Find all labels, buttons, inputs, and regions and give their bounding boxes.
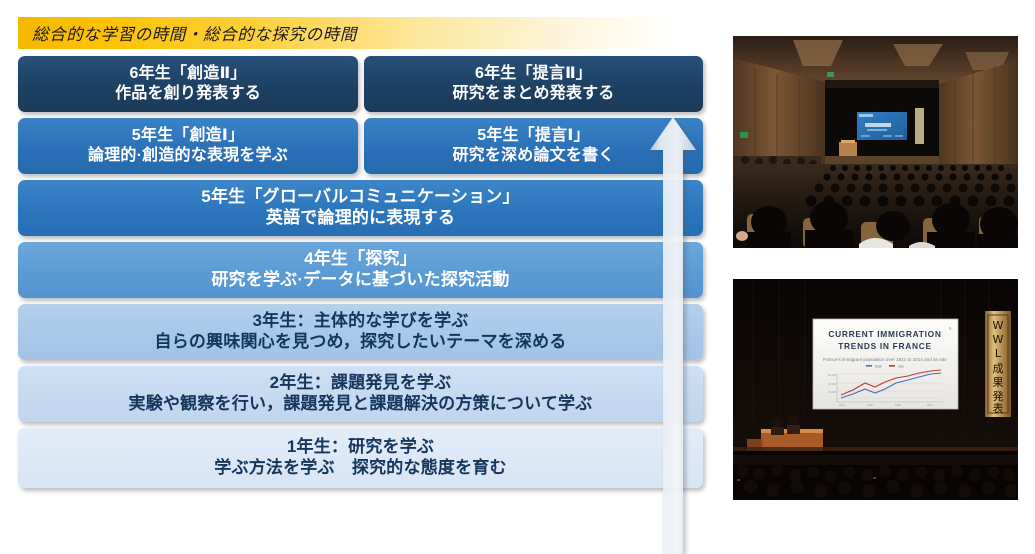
- svg-text:total: total: [875, 364, 882, 368]
- box-line-1: 6年生「創造Ⅱ」: [129, 64, 246, 84]
- header-banner: 総合的な学習の時間・総合的な探究の時間: [18, 17, 710, 49]
- box-line-2: 自らの興味関心を見つめ，探究したいテーマを深める: [155, 332, 567, 353]
- svg-text:2014: 2014: [927, 403, 933, 407]
- box-line-2: 研究を深め論文を書く: [452, 146, 614, 166]
- ladder-row-grade5: 5年生「創造Ⅰ」 論理的·創造的な表現を学ぶ 5年生「提言Ⅰ」 研究を深め論文を…: [0, 118, 715, 174]
- svg-text:rate: rate: [898, 364, 904, 368]
- ladder-row-grade6: 6年生「創造Ⅱ」 作品を創り発表する 6年生「提言Ⅱ」 研究をまとめ発表する: [0, 56, 715, 112]
- slide-subtitle: France's immigrant population over 1921 …: [823, 357, 947, 362]
- ladder-box-grade5-creation1[interactable]: 5年生「創造Ⅰ」 論理的·創造的な表現を学ぶ: [18, 118, 358, 174]
- ladder-box-grade3-independent-learning[interactable]: 3年生：主体的な学びを学ぶ 自らの興味関心を見つめ，探究したいテーマを深める: [18, 304, 703, 360]
- svg-text:W: W: [993, 333, 1004, 346]
- ladder-box-grade5-global-communication[interactable]: 5年生「グローバルコミュニケーション」 英語で論理的に表現する: [18, 180, 703, 236]
- svg-text:30 000: 30 000: [828, 373, 836, 377]
- box-line-1: 5年生「創造Ⅰ」: [132, 126, 244, 146]
- box-line-1: 5年生「グローバルコミュニケーション」: [201, 187, 519, 208]
- photo-stage-presentation: CURRENT IMMIGRATION TRENDS IN FRANCE Fra…: [733, 279, 1018, 500]
- ladder-row-grade1: 1年生：研究を学ぶ 学ぶ方法を学ぶ 探究的な態度を育む: [0, 428, 715, 488]
- svg-text:発: 発: [993, 389, 1004, 403]
- ladder-box-grade6-proposal2[interactable]: 6年生「提言Ⅱ」 研究をまとめ発表する: [364, 56, 703, 112]
- box-line-1: 2年生：課題発見を学ぶ: [270, 373, 452, 394]
- box-line-2: 英語で論理的に表現する: [266, 208, 455, 229]
- box-line-2: 実験や観察を行い，課題発見と課題解決の方策について学ぶ: [129, 394, 593, 415]
- svg-text:L: L: [995, 347, 1002, 360]
- box-line-2: 論理的·創造的な表現を学ぶ: [88, 146, 288, 166]
- box-line-1: 6年生「提言Ⅱ」: [475, 64, 592, 84]
- banner-calligraphy-text: W W L 成 果 発 表: [993, 319, 1004, 415]
- svg-text:1921: 1921: [839, 403, 845, 407]
- svg-text:果: 果: [993, 376, 1004, 389]
- box-line-1: 5年生「提言Ⅰ」: [477, 126, 589, 146]
- box-line-1: 4年生「探究」: [304, 249, 417, 270]
- ladder-box-grade6-creation2[interactable]: 6年生「創造Ⅱ」 作品を創り発表する: [18, 56, 358, 112]
- slide-title-line1: CURRENT IMMIGRATION: [828, 329, 941, 339]
- slide-title-line2: TRENDS IN FRANCE: [838, 341, 932, 351]
- svg-text:成: 成: [993, 362, 1004, 375]
- svg-text:W: W: [993, 319, 1004, 332]
- ladder-box-grade2-problem-finding[interactable]: 2年生：課題発見を学ぶ 実験や観察を行い，課題発見と課題解決の方策について学ぶ: [18, 366, 703, 422]
- box-line-2: 作品を創り発表する: [115, 84, 261, 104]
- ladder-box-grade4-inquiry[interactable]: 4年生「探究」 研究を学ぶ·データに基づいた探究活動: [18, 242, 703, 298]
- svg-text:20 000: 20 000: [828, 382, 836, 386]
- svg-text:表: 表: [993, 401, 1004, 415]
- box-line-2: 学ぶ方法を学ぶ 探究的な態度を育む: [214, 458, 506, 479]
- svg-text:10 000: 10 000: [828, 390, 836, 394]
- box-line-1: 1年生：研究を学ぶ: [287, 437, 434, 458]
- ladder-box-grade1-research[interactable]: 1年生：研究を学ぶ 学ぶ方法を学ぶ 探究的な態度を育む: [18, 428, 703, 488]
- ladder-row-grade2: 2年生：課題発見を学ぶ 実験や観察を行い，課題発見と課題解決の方策について学ぶ: [0, 366, 715, 422]
- ladder-row-grade3: 3年生：主体的な学びを学ぶ 自らの興味関心を見つめ，探究したいテーマを深める: [0, 304, 715, 360]
- svg-text:1990: 1990: [895, 403, 901, 407]
- box-line-1: 3年生：主体的な学びを学ぶ: [252, 311, 468, 332]
- ladder-row-grade4: 4年生「探究」 研究を学ぶ·データに基づいた探究活動: [0, 242, 715, 298]
- ladder-row-grade5-global: 5年生「グローバルコミュニケーション」 英語で論理的に表現する: [0, 180, 715, 236]
- box-line-2: 研究を学ぶ·データに基づいた探究活動: [211, 270, 509, 291]
- page-title: 総合的な学習の時間・総合的な探究の時間: [18, 21, 357, 45]
- curriculum-ladder-diagram: 6年生「創造Ⅱ」 作品を創り発表する 6年生「提言Ⅱ」 研究をまとめ発表する 5…: [0, 56, 715, 504]
- photo-auditorium-audience: [733, 36, 1018, 248]
- box-line-2: 研究をまとめ発表する: [452, 84, 614, 104]
- ladder-box-grade5-proposal1[interactable]: 5年生「提言Ⅰ」 研究を深め論文を書く: [364, 118, 703, 174]
- svg-text:1962: 1962: [867, 403, 873, 407]
